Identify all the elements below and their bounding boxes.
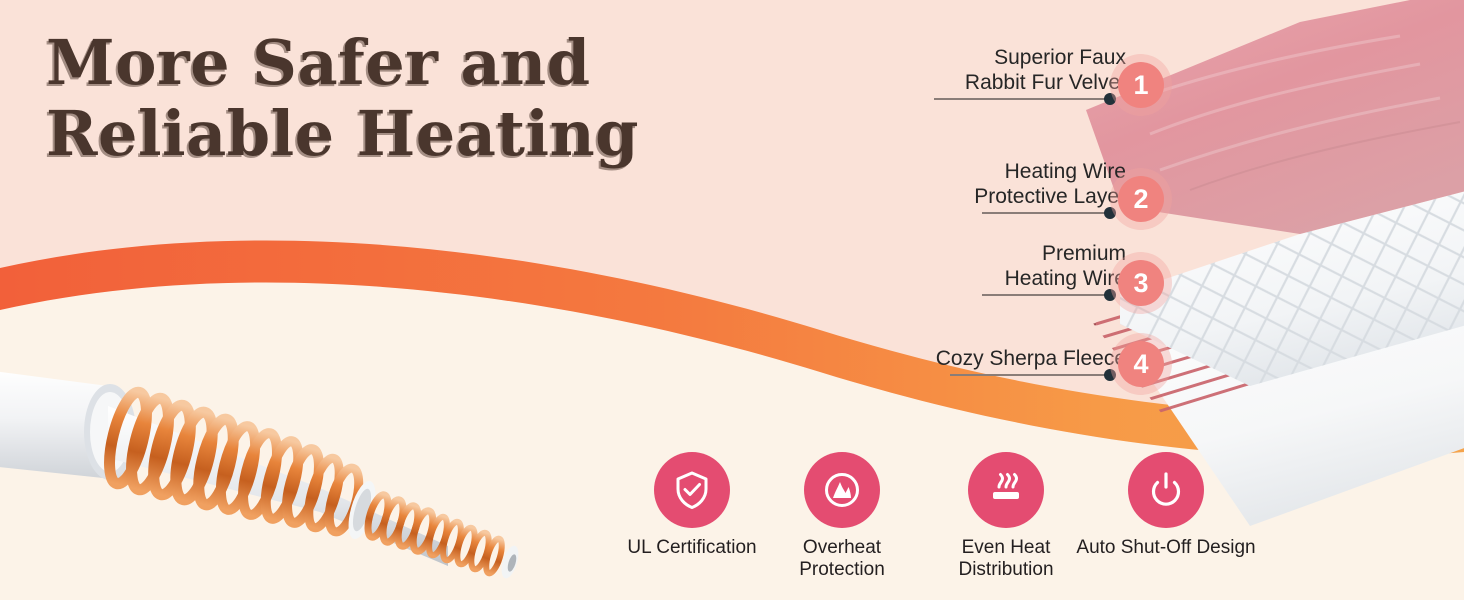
callout-1-leader-line: [934, 98, 1110, 100]
callout-2-label-line-2: Protective Layer: [974, 184, 1126, 210]
callout-1-label: Superior Faux Rabbit Fur Velvet: [965, 45, 1126, 96]
callout-4-label: Cozy Sherpa Fleece: [936, 346, 1126, 372]
callout-2-label: Heating Wire Protective Layer: [974, 159, 1126, 210]
callout-4-label-line-1: Cozy Sherpa Fleece: [936, 347, 1126, 370]
callout-2-label-line-1: Heating Wire: [1005, 160, 1126, 183]
heat-waves-icon: [968, 452, 1044, 528]
callout-2-leader-line: [982, 212, 1110, 214]
callout-4-leader-line: [950, 374, 1110, 376]
feature-auto-shut-off[interactable]: Auto Shut-Off Design: [1066, 452, 1266, 559]
callout-2-number: 2: [1133, 184, 1148, 215]
callout-3-number: 3: [1133, 268, 1148, 299]
feature-auto-shut-off-label: Auto Shut-Off Design: [1066, 537, 1266, 559]
callout-3-label: Premium Heating Wire: [1005, 241, 1126, 292]
feature-auto-shut-off-line-1: Auto Shut-Off Design: [1076, 537, 1255, 558]
feature-row: UL Certification Overheat Protection: [600, 452, 1300, 600]
layer-marker-1-icon[interactable]: 1: [1118, 62, 1164, 108]
headline-line-2: Reliable Heating: [46, 99, 746, 170]
callout-4-number: 4: [1133, 349, 1148, 380]
product-feature-banner: More Safer and Reliable Heating: [0, 0, 1464, 600]
callout-1-leader-dot: [1104, 93, 1116, 105]
callout-3-leader-line: [982, 294, 1110, 296]
callout-3-leader-dot: [1104, 289, 1116, 301]
callout-1-label-line-2: Rabbit Fur Velvet: [965, 70, 1126, 96]
feature-even-heat-distribution-line-2: Distribution: [906, 559, 1106, 581]
callout-3-label-line-1: Premium: [1042, 242, 1126, 265]
layer-marker-4-icon[interactable]: 4: [1118, 341, 1164, 387]
shield-check-icon: [654, 452, 730, 528]
power-icon: [1128, 452, 1204, 528]
callout-4-leader-dot: [1104, 369, 1116, 381]
layer-marker-2-icon[interactable]: 2: [1118, 176, 1164, 222]
headline-line-1: More Safer and: [46, 28, 746, 99]
headline: More Safer and Reliable Heating: [46, 28, 746, 169]
layer-marker-3-icon[interactable]: 3: [1118, 260, 1164, 306]
feature-even-heat-distribution-line-1: Even Heat: [962, 537, 1051, 558]
callout-2-leader-dot: [1104, 207, 1116, 219]
callout-1-number: 1: [1133, 70, 1148, 101]
callout-1-label-line-1: Superior Faux: [994, 46, 1126, 69]
feature-overheat-protection-line-1: Overheat: [803, 537, 881, 558]
feature-ul-certification-line-1: UL Certification: [627, 537, 756, 558]
copper-heating-cable-cutaway: [0, 360, 570, 600]
flame-ring-icon: [804, 452, 880, 528]
